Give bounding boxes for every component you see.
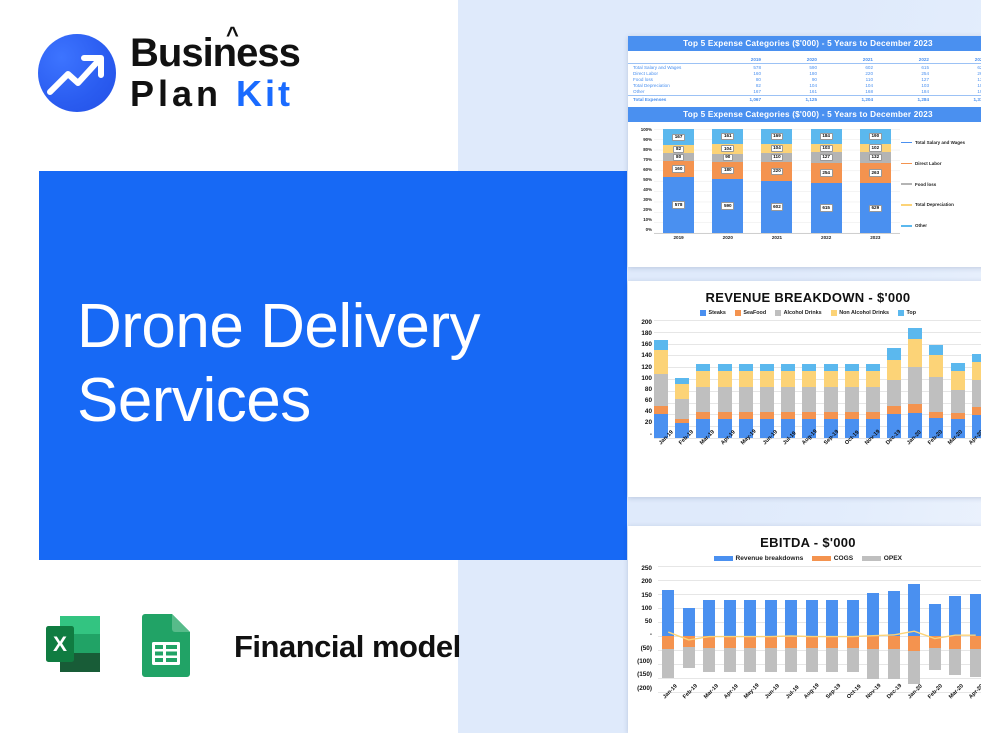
y-tick: 120 <box>628 365 652 371</box>
x-axis: Jan-19Feb-19Mar-19Apr-19May-19Jun-19Jul-… <box>658 442 981 448</box>
format-badges: X Financial model <box>38 608 461 685</box>
y-tick: - <box>628 632 652 638</box>
col-head-blank <box>628 56 708 64</box>
plot-area: 25020015010050-(50)(100)(150)(200)Jan-19… <box>628 566 981 733</box>
bar-segment <box>760 364 774 372</box>
row-label: Other <box>628 89 708 96</box>
plot-area: 20018016014012010080604020-Jan-19Feb-19M… <box>628 320 981 480</box>
legend-swatch <box>901 142 912 144</box>
bar-segment <box>824 364 838 372</box>
bar-segment <box>696 371 710 386</box>
y-tick: (100) <box>628 659 652 665</box>
col-head-2020: 2020 <box>764 56 820 64</box>
stacked-bar <box>908 320 922 438</box>
chart-legend: Revenue breakdownsCOGSOPEX <box>628 555 981 562</box>
y-tick: 20% <box>630 208 652 212</box>
stacked-bar: 16110490180590 <box>712 129 743 233</box>
brand-line-1: Business ^ <box>130 33 300 73</box>
legend-label: Direct Labor <box>915 161 942 166</box>
y-tick: - <box>628 432 652 438</box>
bar-segment <box>951 371 965 390</box>
y-tick: 0% <box>630 228 652 232</box>
bar-segment <box>908 404 922 413</box>
legend-item: Total Depreciation <box>901 202 981 207</box>
stacked-bar <box>781 320 795 438</box>
bar-value-label: 263 <box>869 169 882 176</box>
legend-swatch <box>862 556 881 561</box>
legend-label: Total Depreciation <box>915 202 954 207</box>
cell: 602 <box>820 64 876 71</box>
y-axis-ticks: 100%90%80%70%60%50%40%30%20%10%0% <box>630 128 652 232</box>
expense-stacked-chart: 100%90%80%70%60%50%40%30%20%10%0% 167828… <box>628 126 981 254</box>
cell: 184 <box>876 89 932 96</box>
legend-label: Non Alcohol Drinks <box>839 310 889 316</box>
bar-value-label: 104 <box>771 145 784 152</box>
y-tick: 60 <box>628 398 652 404</box>
bar-segment: 110 <box>761 153 792 162</box>
bar-segment <box>972 380 981 408</box>
y-tick: 60% <box>630 168 652 172</box>
stacked-bar <box>866 320 880 438</box>
bar-value-label: 180 <box>721 167 734 174</box>
x-axis: Jan-19Feb-19Mar-19Apr-19May-19Jun-19Jul-… <box>662 696 981 702</box>
cell: 615 <box>876 64 932 71</box>
stacked-bar: 1678280160578 <box>663 129 694 233</box>
legend-label: SeaFood <box>743 310 766 316</box>
stacked-bar <box>929 320 943 438</box>
bar-segment <box>696 364 710 372</box>
x-tick: 2021 <box>761 235 792 240</box>
stacked-bar <box>718 320 732 438</box>
expense-table: 2019 2020 2021 2022 2023 Total Salary an… <box>628 56 981 102</box>
legend-item: Direct Labor <box>901 161 981 166</box>
bar-value-label: 104 <box>721 145 734 152</box>
legend-item: Other <box>901 223 981 228</box>
y-tick: (50) <box>628 646 652 652</box>
y-tick: (200) <box>628 686 652 692</box>
legend-label: COGS <box>834 555 853 562</box>
bar-segment: 127 <box>811 152 842 162</box>
bar-segment <box>739 364 753 372</box>
bar-value-label: 254 <box>820 169 833 176</box>
x-tick: 2022 <box>811 235 842 240</box>
legend-item: Non Alcohol Drinks <box>831 310 889 316</box>
legend-item: SeaFood <box>735 310 766 316</box>
y-tick: 40% <box>630 188 652 192</box>
stacked-bar <box>972 320 981 438</box>
x-tick: 2020 <box>712 235 743 240</box>
legend-swatch <box>898 310 904 316</box>
cell: 590 <box>764 64 820 71</box>
revenue-chart-title: REVENUE BREAKDOWN - $'000 <box>628 290 981 305</box>
bar-segment <box>972 407 981 415</box>
bar-segment <box>866 371 880 386</box>
y-tick: 30% <box>630 198 652 202</box>
bar-segment <box>802 364 816 372</box>
bar-segment <box>781 371 795 386</box>
bar-segment: 104 <box>712 144 743 154</box>
bar-segment: 169 <box>761 129 792 144</box>
x-axis-ticks: 20192020202120222023 <box>654 235 900 240</box>
bar-value-label: 82 <box>673 146 683 153</box>
cell: 1,125 <box>764 95 820 102</box>
microsoft-excel-icon: X <box>38 608 110 685</box>
y-tick: 90% <box>630 138 652 142</box>
bar-segment <box>718 371 732 386</box>
bar-segment <box>718 387 732 412</box>
bar-segment <box>675 399 689 419</box>
legend-swatch <box>901 163 912 165</box>
cell: 167 <box>708 89 764 96</box>
y-tick: 200 <box>628 579 652 585</box>
bar-segment: 578 <box>663 177 694 233</box>
legend-item: Top <box>898 310 916 316</box>
y-tick: 50% <box>630 178 652 182</box>
bar-segment <box>866 364 880 372</box>
bar-value-label: 80 <box>673 154 683 161</box>
legend-label: Alcohol Drinks <box>784 310 822 316</box>
row-label: Total Salary and Wages <box>628 64 708 71</box>
legend-label: Total Salary and Wages <box>915 140 965 145</box>
y-tick: 100% <box>630 128 652 132</box>
bar-value-label: 590 <box>721 202 734 209</box>
bar-segment <box>887 360 901 379</box>
bar-segment <box>760 387 774 412</box>
brand-word-kit: Kit <box>236 73 293 114</box>
col-head-2022: 2022 <box>876 56 932 64</box>
y-tick: 250 <box>628 566 652 572</box>
bar-segment: 254 <box>811 163 842 184</box>
legend-label: Food loss <box>915 182 936 187</box>
cell: 1,316 <box>932 95 981 102</box>
col-head-2023: 2023 <box>932 56 981 64</box>
bar-segment <box>654 350 668 374</box>
expense-table-title: Top 5 Expense Categories ($'000) - 5 Yea… <box>628 36 981 51</box>
bar-segment: 80 <box>663 153 694 161</box>
bar-segment <box>760 371 774 386</box>
y-tick: 160 <box>628 342 652 348</box>
table-row: Total Salary and Wages 578 590 602 615 6… <box>628 64 981 71</box>
expense-categories-card[interactable]: Top 5 Expense Categories ($'000) - 5 Yea… <box>628 36 981 267</box>
legend-item: Total Salary and Wages <box>901 140 981 145</box>
bar-segment: 90 <box>712 154 743 162</box>
bar-segment: 161 <box>712 129 743 144</box>
legend-swatch <box>901 225 912 227</box>
table-total-row: Total Expenses 1,067 1,125 1,204 1,284 1… <box>628 95 981 102</box>
bar-value-label: 184 <box>820 133 833 140</box>
bar-segment <box>675 384 689 399</box>
stacked-bar <box>845 320 859 438</box>
bar-segment: 220 <box>761 162 792 181</box>
bar-segment <box>908 339 922 367</box>
bar-segment <box>908 367 922 404</box>
bar-value-label: 220 <box>771 168 784 175</box>
bar-segment: 615 <box>811 183 842 233</box>
y-tick: 180 <box>628 331 652 337</box>
stacked-bar: 184103127254615 <box>811 129 842 233</box>
y-tick: 150 <box>628 593 652 599</box>
bar-segment <box>951 363 965 371</box>
brand-word-plan: Plan <box>130 73 222 114</box>
legend-item: Revenue breakdowns <box>714 555 803 562</box>
bar-segment: 190 <box>860 129 891 144</box>
cell: 161 <box>764 89 820 96</box>
google-sheets-icon <box>132 608 200 685</box>
y-tick: 140 <box>628 353 652 359</box>
col-head-2019: 2019 <box>708 56 764 64</box>
legend-swatch <box>735 310 741 316</box>
cell: 1,204 <box>820 95 876 102</box>
brand-line-2: Plan Kit <box>130 76 300 112</box>
ebitda-card[interactable]: EBITDA - $'000 Revenue breakdownsCOGSOPE… <box>628 526 981 733</box>
bar-segment <box>696 387 710 412</box>
y-tick: 80 <box>628 387 652 393</box>
y-tick: 40 <box>628 409 652 415</box>
legend-swatch <box>714 556 733 561</box>
bar-segment: 629 <box>860 183 891 233</box>
legend-label: OPEX <box>884 555 902 562</box>
chart-legend: Total Salary and WagesDirect LaborFood l… <box>901 132 981 236</box>
bar-value-label: 110 <box>771 154 784 161</box>
bar-segment <box>929 377 943 412</box>
bar-value-label: 615 <box>820 204 833 211</box>
bar-value-label: 132 <box>869 154 882 161</box>
bar-segment <box>887 348 901 360</box>
bar-segment <box>929 355 943 377</box>
bar-segment <box>866 387 880 412</box>
bar-segment: 103 <box>811 144 842 152</box>
legend-label: Revenue breakdowns <box>735 555 803 562</box>
brand-word-business: Business <box>130 31 300 75</box>
brand-accent-mark: ^ <box>226 24 238 46</box>
expense-chart-title: Top 5 Expense Categories ($'000) - 5 Yea… <box>628 107 981 122</box>
bar-value-label: 127 <box>820 154 833 161</box>
bar-segment <box>718 364 732 372</box>
legend-label: Top <box>907 310 916 316</box>
bar-segment: 167 <box>663 129 694 145</box>
legend-swatch <box>700 310 706 316</box>
bar-segment <box>845 387 859 412</box>
stacked-bar <box>675 320 689 438</box>
bar-segment <box>781 364 795 372</box>
bar-value-label: 169 <box>771 133 784 140</box>
cell: 629 <box>932 64 981 71</box>
stacked-bar <box>802 320 816 438</box>
y-tick: 50 <box>628 619 652 625</box>
cell: 168 <box>820 89 876 96</box>
y-tick: 100 <box>628 376 652 382</box>
y-tick: 80% <box>630 148 652 152</box>
y-tick: 10% <box>630 218 652 222</box>
stacked-bar <box>951 320 965 438</box>
plot-area: 1678280160578161104901805901691041102206… <box>654 129 900 234</box>
svg-text:X: X <box>53 633 67 656</box>
stacked-bar <box>887 320 901 438</box>
bar-segment <box>972 354 981 362</box>
legend-item: COGS <box>812 555 853 562</box>
y-tick: 200 <box>628 320 652 326</box>
bar-segment <box>824 387 838 412</box>
legend-swatch <box>775 310 781 316</box>
bars-container <box>654 320 981 438</box>
y-tick: 20 <box>628 420 652 426</box>
legend-item: Steaks <box>700 310 726 316</box>
bar-segment: 102 <box>860 144 891 152</box>
y-axis: 25020015010050-(50)(100)(150)(200) <box>628 566 652 692</box>
bar-segment <box>972 362 981 380</box>
revenue-breakdown-card[interactable]: REVENUE BREAKDOWN - $'000 SteaksSeaFoodA… <box>628 281 981 497</box>
stacked-bar <box>654 320 668 438</box>
bar-segment: 160 <box>663 161 694 177</box>
bar-segment: 602 <box>761 181 792 233</box>
bar-value-label: 190 <box>869 133 882 140</box>
chart-legend: SteaksSeaFoodAlcohol DrinksNon Alcohol D… <box>628 310 981 316</box>
bar-segment <box>929 345 943 354</box>
bar-value-label: 103 <box>820 145 833 152</box>
y-tick: 100 <box>628 606 652 612</box>
bar-value-label: 160 <box>672 165 685 172</box>
cell: 190 <box>932 89 981 96</box>
slide-canvas: Business ^ Plan Kit Drone Delivery Servi… <box>0 0 981 733</box>
stacked-bar <box>696 320 710 438</box>
bar-value-label: 90 <box>723 154 733 161</box>
legend-swatch <box>901 204 912 206</box>
bar-segment: 590 <box>712 179 743 234</box>
legend-label: Other <box>915 223 927 228</box>
y-tick: (150) <box>628 672 652 678</box>
bar-segment <box>845 371 859 386</box>
stacked-bar <box>760 320 774 438</box>
bars-container <box>658 566 981 692</box>
bar-segment <box>739 371 753 386</box>
bar-segment <box>802 371 816 386</box>
legend-item: Alcohol Drinks <box>775 310 822 316</box>
bar-segment <box>739 387 753 412</box>
bar-segment: 132 <box>860 152 891 162</box>
bar-value-label: 102 <box>869 144 882 151</box>
bar-value-label: 602 <box>771 203 784 210</box>
legend-item: Food loss <box>901 182 981 187</box>
cell: 1,284 <box>876 95 932 102</box>
bar-segment: 180 <box>712 162 743 179</box>
stacked-bar: 169104110220602 <box>761 129 792 233</box>
legend-swatch <box>812 556 831 561</box>
stacked-bar: 190102132263629 <box>860 129 891 233</box>
cell: 1,067 <box>708 95 764 102</box>
bar-segment: 184 <box>811 129 842 144</box>
legend-swatch <box>901 183 912 185</box>
bar-segment <box>908 328 922 339</box>
cell: 578 <box>708 64 764 71</box>
bar-segment <box>654 340 668 350</box>
legend-item: OPEX <box>862 555 902 562</box>
table-row: Other 167 161 168 184 190 <box>628 89 981 96</box>
bar-segment <box>887 406 901 414</box>
legend-swatch <box>831 310 837 316</box>
bar-segment: 263 <box>860 163 891 184</box>
legend-label: Steaks <box>708 310 725 316</box>
financial-model-label: Financial model <box>234 629 461 665</box>
bar-segment <box>802 387 816 412</box>
x-tick: 2023 <box>860 235 891 240</box>
page-title: Drone Delivery Services <box>77 290 617 439</box>
bar-segment <box>845 364 859 372</box>
y-axis: 20018016014012010080604020- <box>628 320 652 438</box>
growth-arrow-icon <box>38 34 116 112</box>
bar-value-label: 629 <box>869 205 882 212</box>
stacked-bar <box>739 320 753 438</box>
bar-segment <box>824 371 838 386</box>
x-tick: 2019 <box>663 235 694 240</box>
col-head-2021: 2021 <box>820 56 876 64</box>
ebitda-chart-title: EBITDA - $'000 <box>628 535 981 550</box>
bar-segment <box>654 374 668 405</box>
brand-logo: Business ^ Plan Kit <box>38 33 300 112</box>
table-header-row: 2019 2020 2021 2022 2023 <box>628 56 981 64</box>
bar-segment <box>654 406 668 414</box>
bar-segment <box>887 380 901 407</box>
bar-segment <box>781 387 795 412</box>
y-tick: 70% <box>630 158 652 162</box>
bar-segment <box>951 390 965 413</box>
bar-segment: 104 <box>761 144 792 153</box>
ebitda-line <box>658 566 981 692</box>
stacked-bar <box>824 320 838 438</box>
bar-segment: 82 <box>663 145 694 153</box>
bar-value-label: 167 <box>672 134 685 141</box>
bar-value-label: 161 <box>721 133 734 140</box>
row-label: Total Expenses <box>628 95 708 102</box>
bar-value-label: 578 <box>672 201 685 208</box>
